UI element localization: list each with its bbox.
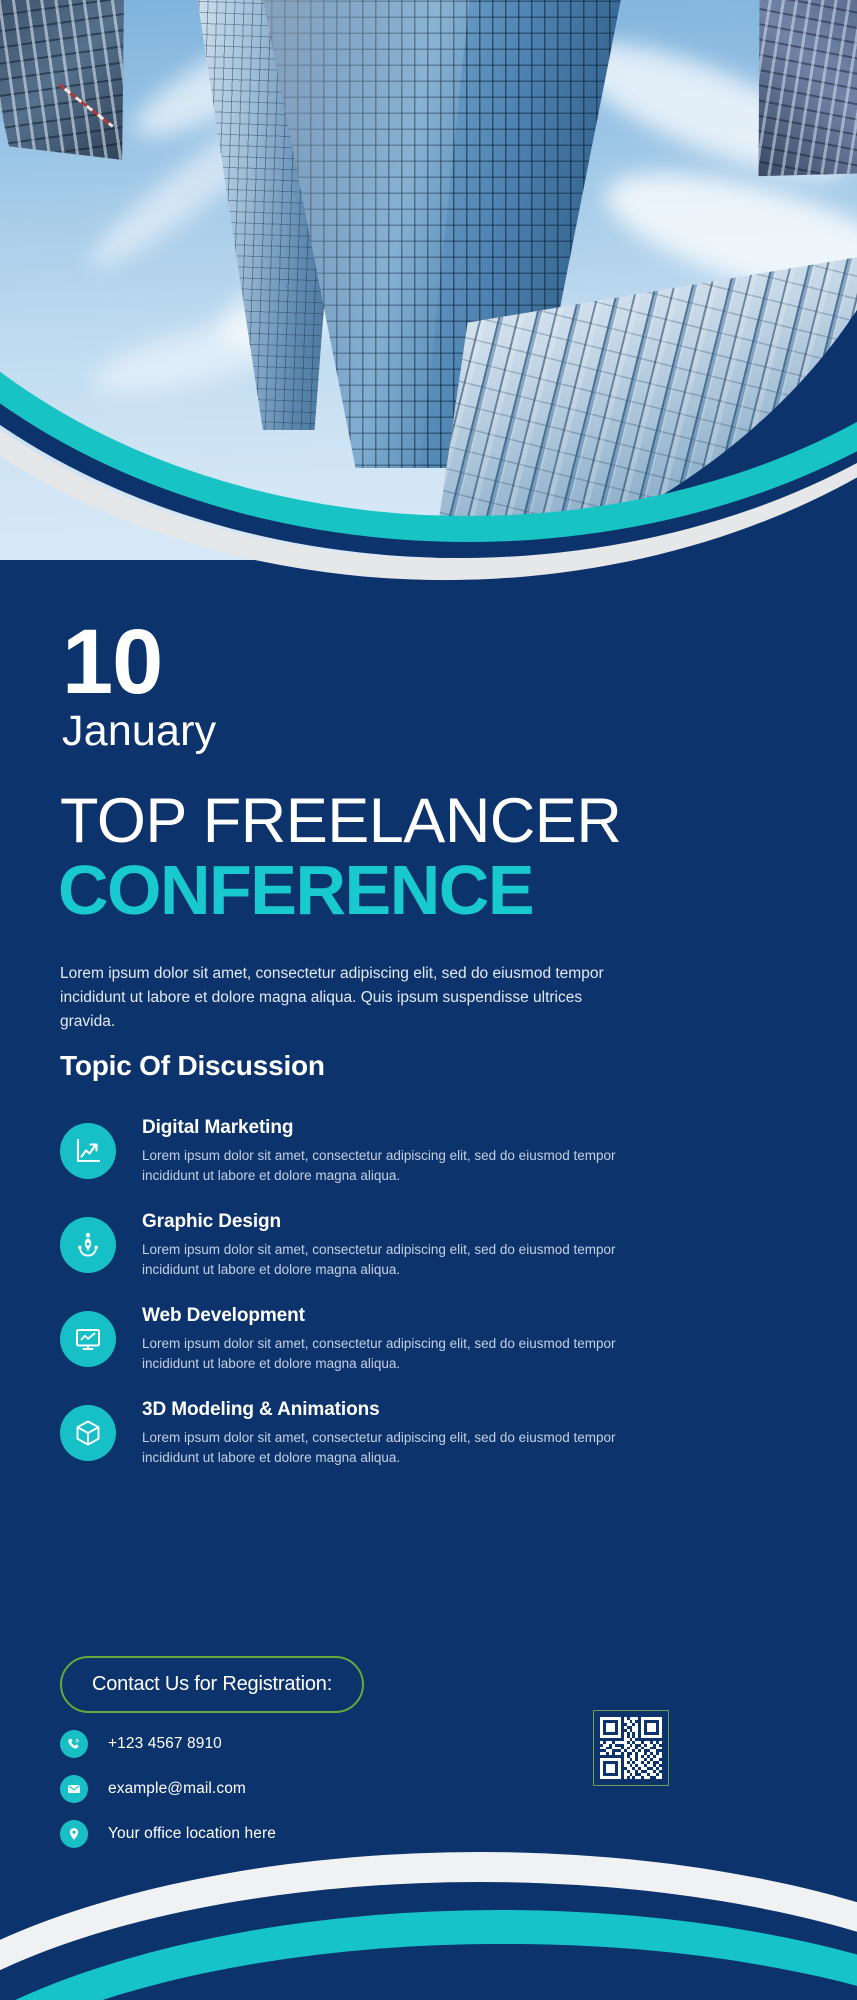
topic-title: Graphic Design bbox=[142, 1211, 642, 1233]
contact-registration-button[interactable]: Contact Us for Registration: bbox=[60, 1656, 364, 1713]
envelope-icon bbox=[60, 1775, 88, 1803]
skyscraper-photograph bbox=[0, 0, 857, 560]
topic-title: Digital Marketing bbox=[142, 1117, 642, 1139]
chart-growth-icon bbox=[60, 1123, 116, 1179]
intro-paragraph: Lorem ipsum dolor sit amet, consectetur … bbox=[60, 962, 605, 1034]
contact-location-value: Your office location here bbox=[108, 1825, 276, 1843]
contact-email-value: example@mail.com bbox=[108, 1780, 246, 1798]
headline-line-2: CONFERENCE bbox=[58, 855, 533, 925]
contact-row-phone[interactable]: +123 4567 8910 bbox=[60, 1730, 276, 1758]
event-month: January bbox=[62, 709, 216, 754]
topic-description: Lorem ipsum dolor sit amet, consectetur … bbox=[142, 1146, 642, 1185]
poster-canvas: 10 January TOP FREELANCER CONFERENCE Lor… bbox=[0, 0, 857, 2000]
cube-3d-icon bbox=[60, 1405, 116, 1461]
topic-item[interactable]: Digital Marketing Lorem ipsum dolor sit … bbox=[60, 1115, 800, 1201]
topics-section-title: Topic Of Discussion bbox=[60, 1050, 325, 1082]
topic-title: Web Development bbox=[142, 1305, 642, 1327]
topic-item[interactable]: Graphic Design Lorem ipsum dolor sit ame… bbox=[60, 1209, 800, 1295]
location-pin-icon bbox=[60, 1820, 88, 1848]
monitor-chart-icon bbox=[60, 1311, 116, 1367]
corner-building-left bbox=[0, 0, 143, 173]
topic-description: Lorem ipsum dolor sit amet, consectetur … bbox=[142, 1240, 642, 1279]
topic-item[interactable]: 3D Modeling & Animations Lorem ipsum dol… bbox=[60, 1397, 800, 1483]
pen-nib-icon bbox=[60, 1217, 116, 1273]
event-date: 10 January bbox=[62, 620, 216, 754]
qr-code[interactable] bbox=[593, 1710, 669, 1786]
topic-item[interactable]: Web Development Lorem ipsum dolor sit am… bbox=[60, 1303, 800, 1389]
topic-title: 3D Modeling & Animations bbox=[142, 1399, 642, 1421]
topics-list: Digital Marketing Lorem ipsum dolor sit … bbox=[60, 1115, 800, 1491]
contact-row-location[interactable]: Your office location here bbox=[60, 1820, 276, 1848]
phone-icon bbox=[60, 1730, 88, 1758]
topic-description: Lorem ipsum dolor sit amet, consectetur … bbox=[142, 1428, 642, 1467]
contact-list: +123 4567 8910 example@mail.com bbox=[60, 1730, 276, 1865]
hero-photo bbox=[0, 0, 857, 560]
event-day: 10 bbox=[62, 620, 216, 705]
topic-description: Lorem ipsum dolor sit amet, consectetur … bbox=[142, 1334, 642, 1373]
headline-line-1: TOP FREELANCER bbox=[60, 790, 621, 853]
qr-modules bbox=[600, 1717, 662, 1779]
contact-phone-value: +123 4567 8910 bbox=[108, 1735, 222, 1753]
contact-row-email[interactable]: example@mail.com bbox=[60, 1775, 276, 1803]
